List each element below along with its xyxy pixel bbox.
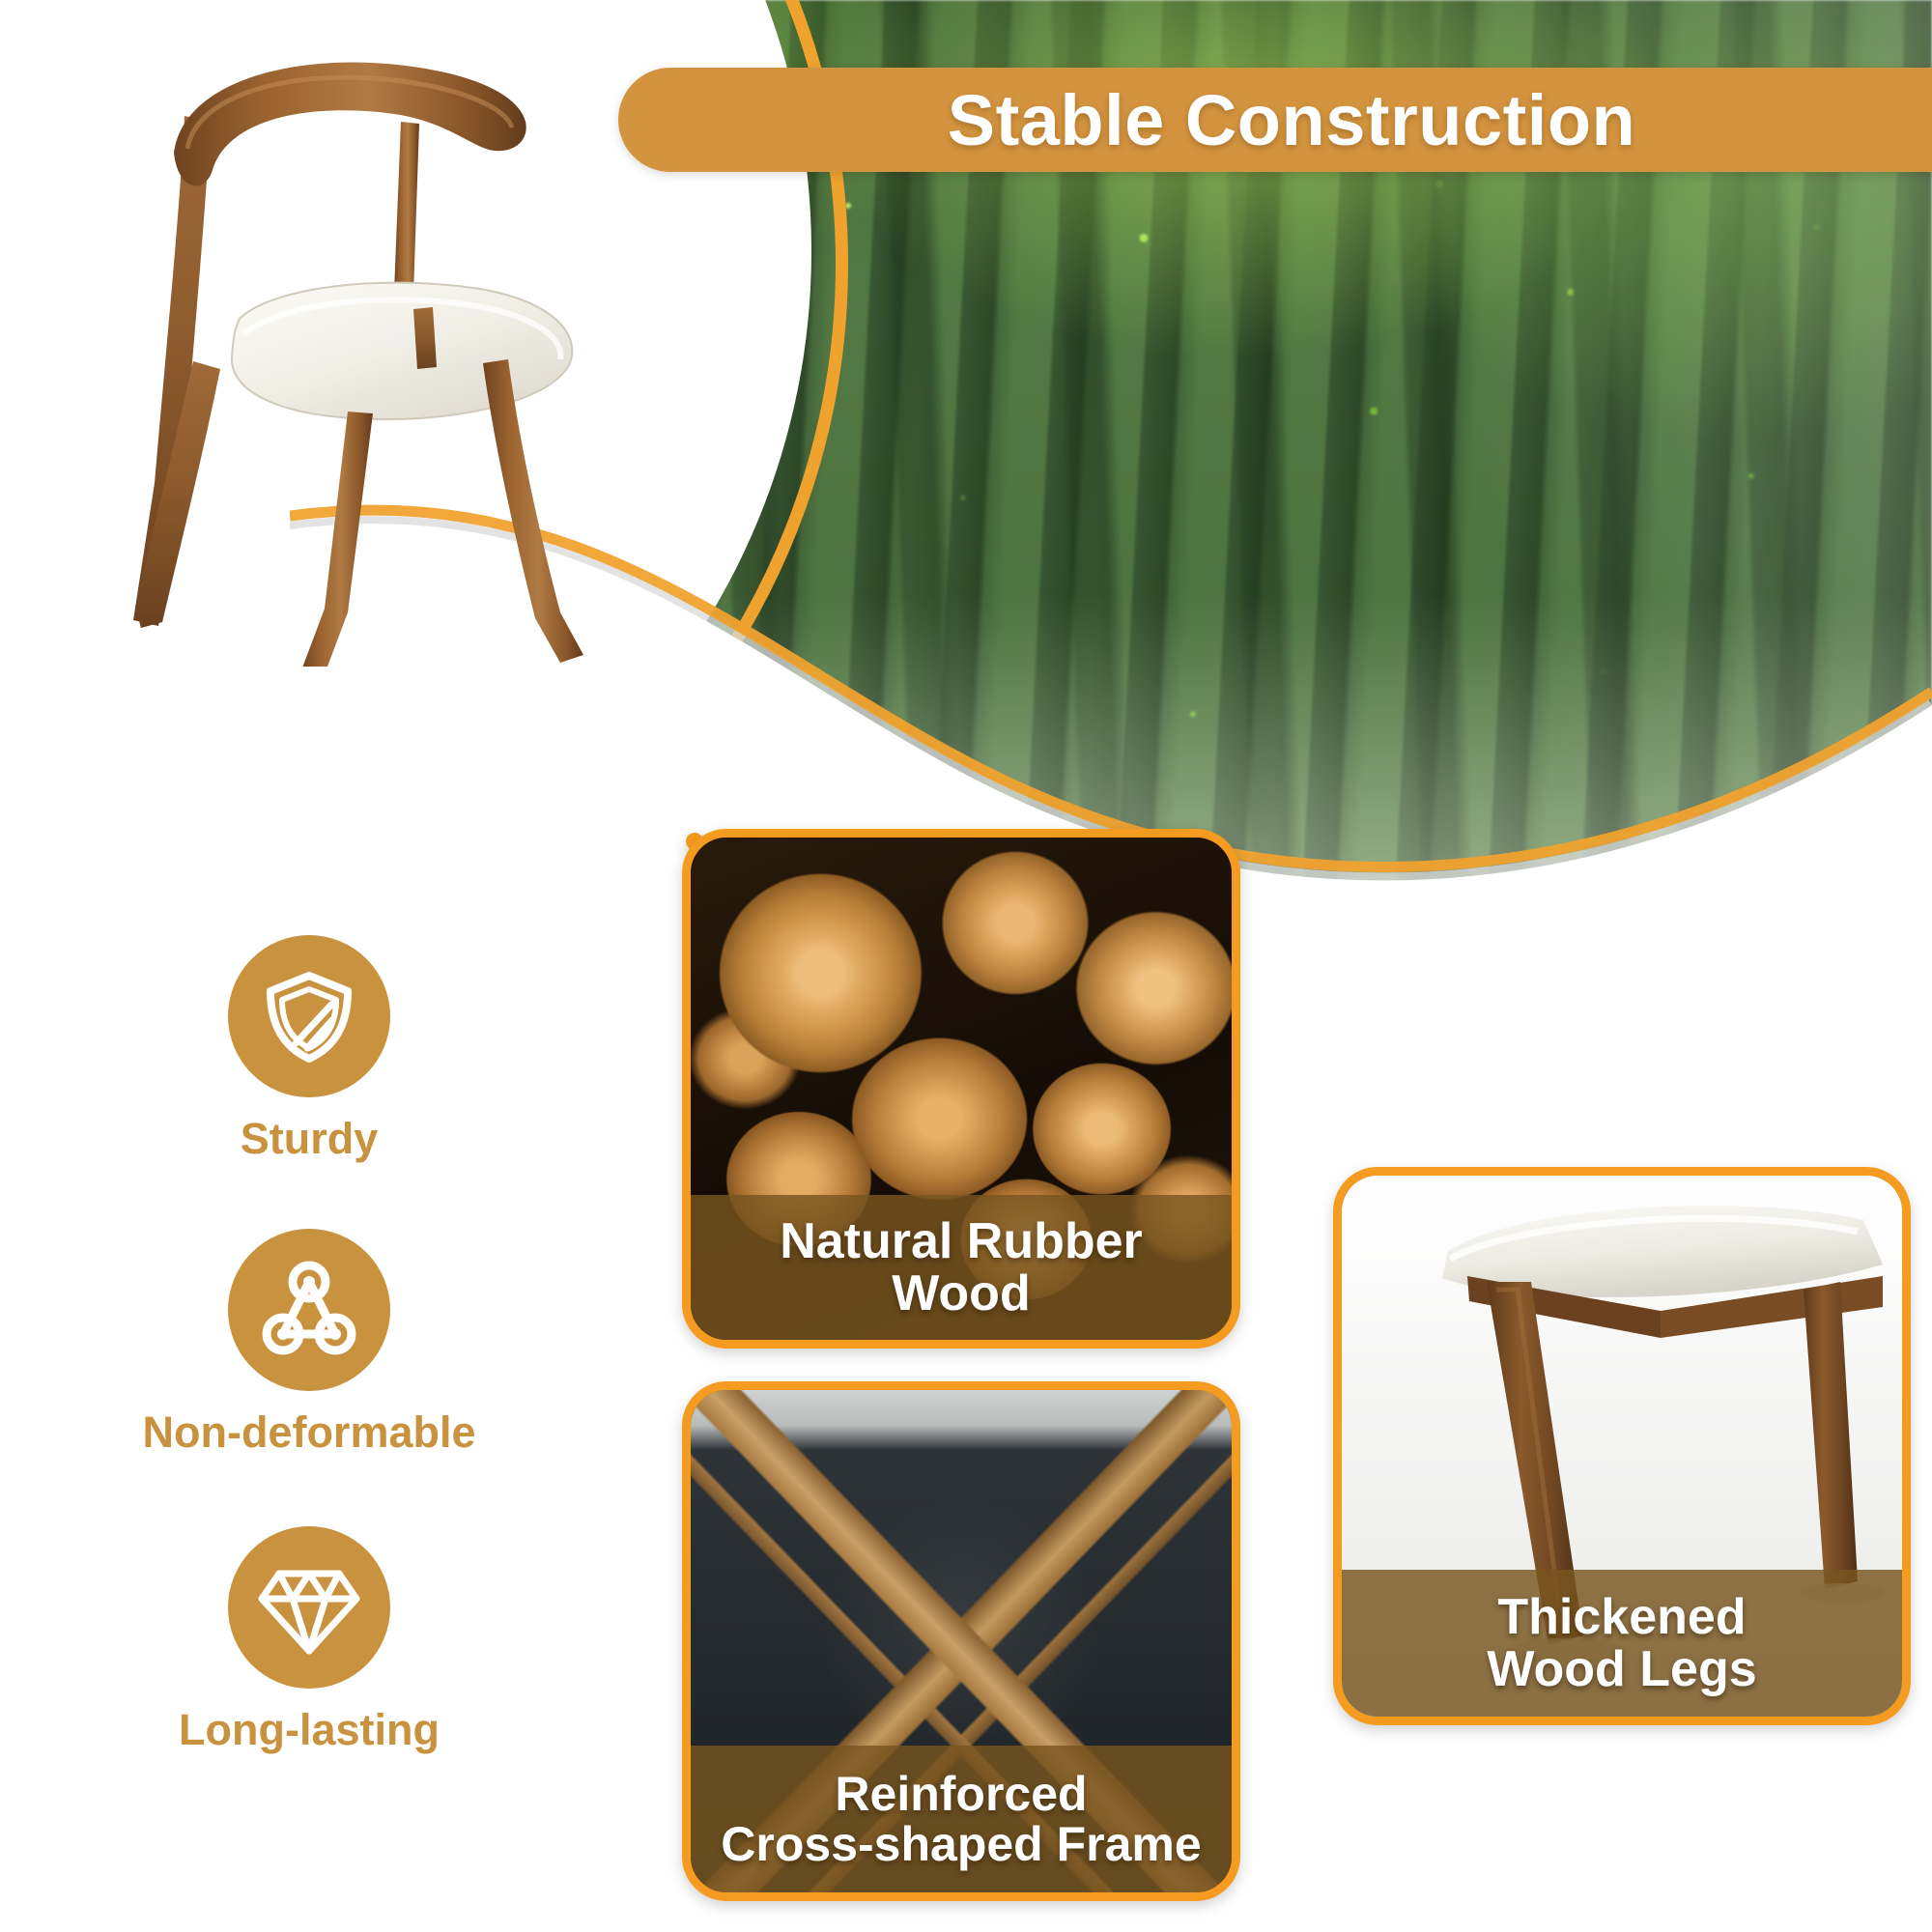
caption-line-1: Reinforced	[691, 1769, 1232, 1819]
caption-line-2: Wood	[691, 1267, 1232, 1320]
feature-label: Non-deformable	[142, 1410, 475, 1454]
feature-non-deformable: Non-deformable	[106, 1229, 512, 1454]
card-thickened-wood-legs[interactable]: Thickened Wood Legs	[1333, 1167, 1911, 1725]
feature-label: Long-lasting	[179, 1708, 440, 1751]
caption-line-1: Natural Rubber	[691, 1215, 1232, 1267]
feature-long-lasting: Long-lasting	[106, 1526, 512, 1751]
page-title: Stable Construction	[948, 79, 1662, 161]
card-natural-rubber-wood[interactable]: Natural Rubber Wood	[682, 829, 1240, 1349]
caption-line-2: Wood Legs	[1342, 1643, 1902, 1695]
feature-sturdy: Sturdy	[106, 935, 512, 1160]
caption-line-2: Cross-shaped Frame	[691, 1819, 1232, 1869]
card-caption: Thickened Wood Legs	[1342, 1570, 1902, 1717]
page-title-banner: Stable Construction	[618, 68, 1932, 172]
shield-icon	[259, 966, 359, 1066]
triangle-node-icon	[256, 1257, 362, 1363]
card-reinforced-cross-shaped-frame[interactable]: Reinforced Cross-shaped Frame	[682, 1381, 1240, 1901]
feature-icon-circle	[228, 1526, 390, 1689]
card-caption: Natural Rubber Wood	[691, 1195, 1232, 1340]
diamond-icon	[256, 1556, 362, 1659]
hero-product-chair	[58, 29, 599, 667]
infographic-canvas: Stable Construction	[0, 0, 1932, 1932]
caption-line-1: Thickened	[1342, 1591, 1902, 1643]
feature-icon-circle	[228, 935, 390, 1097]
feature-label: Sturdy	[241, 1117, 379, 1160]
feature-icon-circle	[228, 1229, 390, 1391]
card-caption: Reinforced Cross-shaped Frame	[691, 1746, 1232, 1892]
